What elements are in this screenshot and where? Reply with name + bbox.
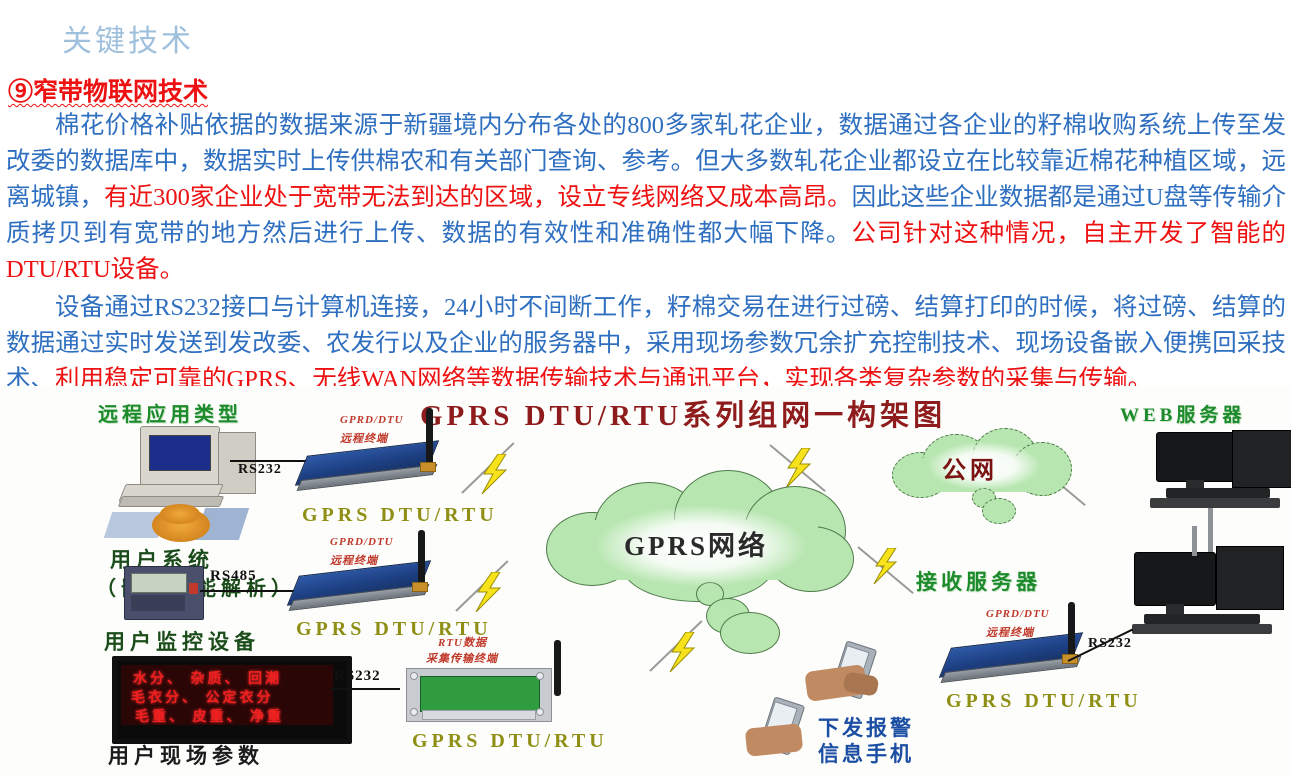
paragraph-1: 棉花价格补贴依据的数据来源于新疆境内分布各处的800多家轧花企业，数据通过各企业… bbox=[6, 108, 1286, 288]
public-network-cloud: 公网 bbox=[888, 426, 1078, 512]
lightning-bolt-2 bbox=[456, 558, 526, 618]
rtu-pcb-device bbox=[406, 664, 576, 726]
label-receive-server: 接收服务器 bbox=[916, 566, 1041, 596]
terminal-tag-1-line1: GPRD/DTU bbox=[340, 414, 404, 426]
led-display-panel: 水分、 杂质、 回潮 毛衣分、 公定衣分 毛重、 皮重、 净重 bbox=[112, 656, 352, 744]
dtu-caption-3: GPRS DTU/RTU bbox=[412, 730, 608, 753]
lightning-bolt-1 bbox=[462, 440, 532, 500]
dtu-device-1 bbox=[300, 446, 450, 494]
lightning-bolt-3 bbox=[650, 618, 720, 678]
paragraph-2: 设备通过RS232接口与计算机连接，24小时不间断工作，籽棉交易在进行过磅、结算… bbox=[6, 290, 1286, 398]
led-line-3: 毛重、 皮重、 净重 bbox=[135, 706, 284, 726]
gprs-network-cloud: GPRS网络 bbox=[538, 464, 858, 604]
dtu-caption-1: GPRS DTU/RTU bbox=[302, 504, 498, 527]
label-user-site-params: 用户现场参数 bbox=[108, 740, 264, 770]
led-line-2: 毛衣分、 公定衣分 bbox=[131, 687, 274, 707]
label-rs232-top: RS232 bbox=[238, 462, 282, 478]
label-alarm-phone-line2: 信息手机 bbox=[818, 738, 914, 768]
architecture-diagram: GPRS DTU/RTU系列组网一构架图 远程应用类型 用户系统 （嵌入智能解析… bbox=[0, 386, 1291, 777]
label-rs485: RS485 bbox=[210, 568, 257, 585]
rtu-tag-line1: RTU数据 bbox=[438, 634, 487, 650]
terminal-tag-2-line1: GPRD/DTU bbox=[330, 536, 394, 548]
label-web-server: WEB服务器 bbox=[1120, 400, 1245, 427]
text-run: 有近300家企业处于宽带无法到达的区域，设立专线网络又成本高昂。 bbox=[104, 184, 852, 211]
section-heading: ⑨窄带物联网技术 bbox=[8, 72, 208, 108]
public-cloud-label: 公网 bbox=[942, 450, 998, 485]
receive-server-workstation bbox=[1128, 538, 1288, 648]
label-user-monitor-device: 用户监控设备 bbox=[104, 626, 260, 656]
terminal-tag-3-line1: GPRD/DTU bbox=[986, 608, 1050, 620]
body-text: 棉花价格补贴依据的数据来源于新疆境内分布各处的800多家轧花企业，数据通过各企业… bbox=[6, 108, 1286, 400]
label-rs232-bottom: RS232 bbox=[334, 668, 381, 685]
dtu-device-2 bbox=[292, 566, 442, 614]
wire-rs232-bottom bbox=[330, 688, 400, 690]
label-rs232-right: RS232 bbox=[1088, 636, 1132, 652]
hand-with-coins-graphic bbox=[108, 504, 248, 546]
terminal-tag-1-line2: 远程终端 bbox=[340, 430, 388, 446]
user-monitor-device-unit bbox=[124, 566, 204, 620]
gprs-cloud-label: GPRS网络 bbox=[624, 524, 768, 563]
dtu-device-3 bbox=[944, 638, 1094, 686]
label-remote-app-type: 远程应用类型 bbox=[98, 398, 242, 427]
page-title: 关键技术 bbox=[62, 16, 194, 60]
web-server-workstation bbox=[1142, 430, 1291, 526]
dtu-caption-4: GPRS DTU/RTU bbox=[946, 690, 1142, 713]
led-line-1: 水分、 杂质、 回潮 bbox=[133, 668, 282, 688]
diagram-title: GPRS DTU/RTU系列组网一构架图 bbox=[420, 392, 946, 434]
